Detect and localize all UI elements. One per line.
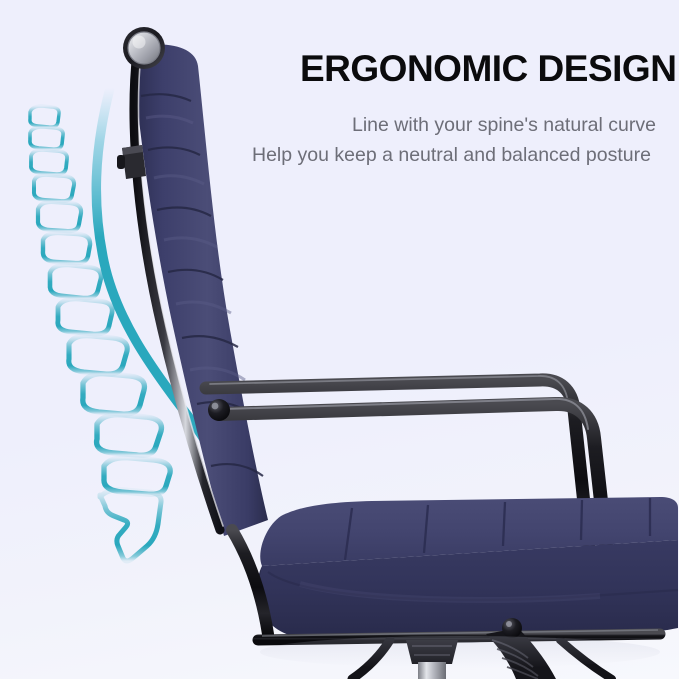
subtitle-line-1: Line with your spine's natural curve <box>352 112 656 138</box>
backrest <box>134 44 269 536</box>
subtitle-line-2: Help you keep a neutral and balanced pos… <box>252 142 651 168</box>
seat-cushion <box>257 497 678 643</box>
headrest-cap <box>123 27 165 69</box>
armrest-pivot-knob <box>208 399 230 421</box>
page-title: ERGONOMIC DESIGN <box>300 50 672 87</box>
product-feature-banner: ERGONOMIC DESIGN Line with your spine's … <box>0 0 679 679</box>
office-chair-illustration <box>0 0 679 679</box>
tilt-lever <box>117 145 146 179</box>
seat-shadow <box>260 636 660 668</box>
